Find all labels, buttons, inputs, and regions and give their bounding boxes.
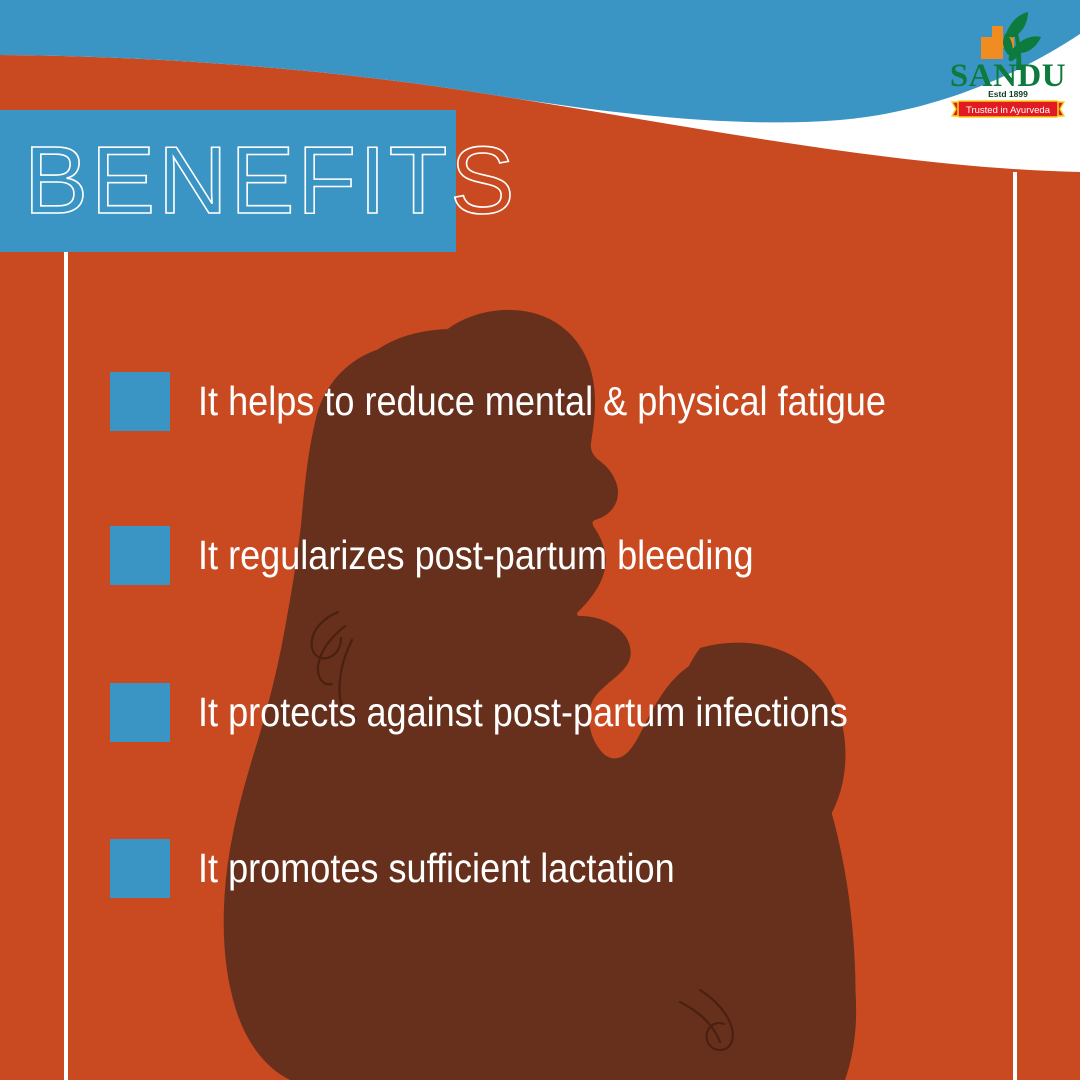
benefits-list: It helps to reduce mental & physical fat…: [0, 0, 1080, 1080]
bullet-square-icon: [110, 839, 170, 898]
bullet-square-icon: [110, 372, 170, 431]
benefit-text: It protects against post-partum infectio…: [198, 689, 848, 735]
logo-tagline-text: Trusted in Ayurveda: [966, 105, 1051, 116]
list-item: It protects against post-partum infectio…: [110, 682, 936, 742]
benefit-text: It regularizes post-partum bleeding: [198, 532, 754, 578]
benefits-poster: BENEFITS It helps to reduce mental & phy…: [0, 0, 1080, 1080]
bullet-square-icon: [110, 683, 170, 742]
list-item: It helps to reduce mental & physical fat…: [110, 371, 980, 431]
benefit-text: It helps to reduce mental & physical fat…: [198, 378, 886, 424]
sandu-logo: SANDU Estd 1899 Trusted in Ayurveda: [944, 8, 1072, 120]
bullet-square-icon: [110, 526, 170, 585]
benefit-text: It promotes sufficient lactation: [198, 845, 675, 891]
logo-established-text: Estd 1899: [988, 89, 1028, 99]
list-item: It promotes sufficient lactation: [110, 838, 740, 898]
list-item: It regularizes post-partum bleeding: [110, 525, 829, 585]
